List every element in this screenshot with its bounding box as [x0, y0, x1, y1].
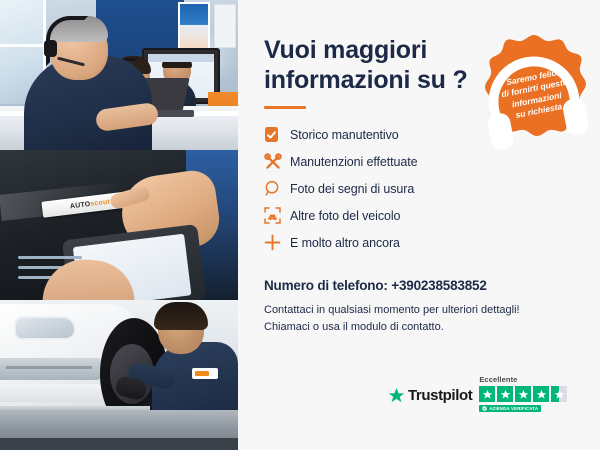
- feature-label: Foto dei segni di usura: [290, 182, 414, 196]
- callout-badge: Saremo felici di fornirti queste informa…: [480, 32, 588, 140]
- star-icon-half: [551, 386, 567, 402]
- feature-label: Altre foto del veicolo: [290, 209, 400, 223]
- plus-icon: [264, 234, 290, 251]
- verified-label: AZIENDA VERIFICATA: [489, 406, 538, 411]
- sticker-text: AUTOscout: [70, 198, 111, 210]
- car-bumper: [0, 384, 112, 402]
- headset-earcup-icon: [44, 40, 57, 57]
- garage-floor: [0, 438, 238, 450]
- phone-label: Numero di telefono:: [264, 278, 388, 293]
- trustpilot-widget[interactable]: Trustpilot Eccellente AZIENDA VERIFICA: [388, 375, 567, 412]
- promo-banner: Operatori di call center con cuffie al c…: [0, 0, 600, 450]
- mechanic-wheel-photo: Meccanico controlla la ruota di un'auto …: [0, 300, 238, 450]
- call-center-agents-photo: Operatori di call center con cuffie al c…: [0, 0, 238, 150]
- wall-poster-second: [214, 4, 236, 48]
- page-title: Vuoi maggiori informazioni su ?: [264, 36, 479, 95]
- uniform-logo: [192, 368, 218, 379]
- list-item: E molto altro ancora: [264, 229, 580, 256]
- monitor-toolbar: [148, 54, 214, 62]
- car-frame-icon: [264, 207, 290, 224]
- rating-label: Eccellente: [479, 375, 517, 384]
- mechanic-hair: [154, 302, 208, 330]
- wall-poster: [178, 2, 210, 52]
- magnifier-icon: [264, 180, 290, 197]
- contact-copy-line-1: Contattaci in qualsiasi momento per ulte…: [264, 304, 520, 316]
- trustpilot-rating: Eccellente AZIENDA VERIFICATA: [479, 375, 567, 412]
- list-item: Foto dei segni di usura: [264, 175, 580, 202]
- car-headlight: [14, 316, 76, 340]
- clipboard-check-icon: [264, 126, 290, 143]
- star-icon: [479, 386, 495, 402]
- feature-label: E molto altro ancora: [290, 236, 400, 250]
- photo-column: Operatori di call center con cuffie al c…: [0, 0, 238, 450]
- content-panel: Vuoi maggiori informazioni su ? Saremo f…: [238, 0, 600, 450]
- badge-text-block: Saremo felici di fornirti queste informa…: [471, 23, 598, 150]
- phone-number[interactable]: +390238583852: [391, 278, 486, 293]
- tablet-text-line: [18, 256, 82, 259]
- star-icon: [497, 386, 513, 402]
- contact-copy-line-2: Chiamaci o usa il modulo di contatto.: [264, 321, 444, 333]
- contact-copy: Contattaci in qualsiasi momento per ulte…: [264, 302, 524, 336]
- feature-label: Storico manutentivo: [290, 128, 399, 142]
- list-item: Altre foto del veicolo: [264, 202, 580, 229]
- verified-badge: AZIENDA VERIFICATA: [479, 405, 541, 412]
- check-circle-icon: [482, 406, 487, 411]
- tools-cross-icon: [264, 153, 290, 171]
- star-icon: [515, 386, 531, 402]
- phone-line: Numero di telefono: +390238583852: [264, 278, 580, 293]
- trustpilot-logo: Trustpilot: [388, 387, 472, 412]
- trustpilot-star-icon: [388, 387, 405, 404]
- headline-line-2: informazioni su ?: [264, 66, 468, 94]
- feature-label: Manutenzioni effettuate: [290, 155, 417, 169]
- car-grille: [0, 358, 104, 380]
- star-rating: [479, 386, 567, 402]
- trustpilot-wordmark: Trustpilot: [408, 387, 472, 404]
- star-icon: [533, 386, 549, 402]
- vehicle-inspection-photo: AUTOscout Tecnico applica adesivo su aut…: [0, 150, 238, 300]
- headline-line-1: Vuoi maggiori: [264, 36, 427, 64]
- accent-divider: [264, 106, 306, 109]
